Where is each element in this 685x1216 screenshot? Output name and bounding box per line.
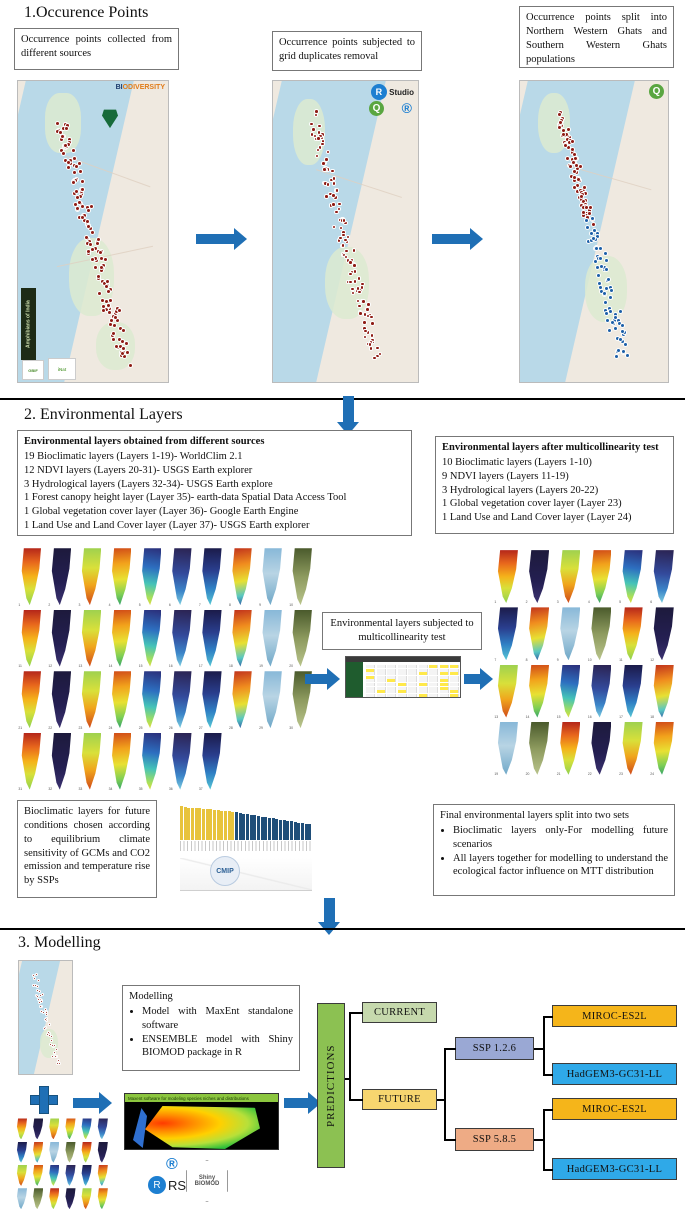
env-layer-thumbnail: 21 [554,721,584,777]
env-layer-thumbnail: 1 [16,547,45,608]
sheet-cell [419,690,428,693]
env-layer-thumbnail [95,1188,110,1210]
cmip-bar [213,810,216,840]
plus-icon [30,1086,58,1114]
cmip-bar [195,808,198,840]
occurrence-point [84,235,89,240]
sheet-cell [429,665,438,668]
occurrence-point [604,258,609,263]
occurrence-point [88,242,93,247]
env-layer-index: 32 [48,787,52,791]
occurrence-point [566,127,571,132]
env-layer-thumbnail: 15 [136,609,165,670]
miroc-es2l-ssp585-box[interactable]: MIROC-ES2L [552,1098,677,1120]
occurrence-point [39,1005,42,1008]
sheet-cell [440,683,449,686]
occurrence-point [330,169,335,174]
sheet-cell [377,694,386,697]
env-layer-index: 25 [139,726,143,730]
occurrence-point [331,202,336,207]
cmip-bar [297,823,300,840]
env-layer-thumbnail: 36 [167,732,196,793]
occurrence-point [71,148,76,153]
occurrence-point [369,346,374,351]
sheet-cell [366,672,375,675]
sheet-cell [366,694,375,697]
r-circle-icon: R [148,1176,166,1194]
env-layer-thumbnail: 19 [257,609,286,670]
connector-ssp126-to-hadgem [543,1074,553,1076]
future-bioclimatic-box: Bioclimatic layers for future conditions… [17,800,157,898]
occurrence-point [48,1023,51,1026]
env-layer-thumbnail: 11 [617,606,647,662]
occurrence-point [352,248,357,253]
occurrence-point [106,303,111,308]
env-layer-thumbnail: 24 [106,670,135,731]
occurrence-point [309,122,314,127]
occurrence-point [361,299,366,304]
env-layer-index: 15 [139,664,143,668]
occurrence-point [121,328,126,333]
sheet-cell [408,679,417,682]
cmip-bar [202,809,205,840]
cmip-bar [220,811,223,840]
cmip-bar [246,814,249,840]
sheet-titlebar [346,657,460,662]
env-source-line: 1 Forest canopy height layer (Layer 35)-… [24,491,405,505]
occurrence-point [311,127,316,132]
section-3-title: 3. Modelling [18,934,101,952]
occurrence-point [344,249,349,254]
sheet-cell [387,665,396,668]
occurrence-point [365,307,370,312]
env-layer-thumbnail [46,1165,61,1187]
occurrence-point [606,277,611,282]
sheet-cell [429,672,438,675]
env-layer-thumbnail: 26 [167,670,196,731]
sheet-cell [408,694,417,697]
occurrence-point [40,1010,43,1013]
occurrence-point [578,164,583,169]
sheet-cell [366,683,375,686]
sheet-cell [429,669,438,672]
connector-predictions-trunk [349,1012,351,1101]
occurrence-point [117,308,122,313]
occurrence-point [105,279,110,284]
sheet-cell [387,694,396,697]
cmip-bar [257,816,260,840]
sheet-cell [387,683,396,686]
occurrence-point [561,132,566,137]
env-layer-thumbnail [95,1141,110,1163]
sheet-cell [377,690,386,693]
env-layer-thumbnail: 2 [523,549,553,605]
occurrence-point [357,304,362,309]
arrow-to-selected-layers [464,668,493,690]
multicollinearity-box: Environmental layers subjected to multic… [322,612,482,650]
occurrence-point [573,156,578,161]
occurrence-point [570,147,575,152]
env-source-line: 3 Hydrological layers (Layers 32-34)- US… [24,478,405,492]
env-layer-index: 8 [526,658,528,662]
occurrence-point [72,170,77,175]
occurrence-point [120,351,125,356]
connector-ssp585-to-miroc [543,1109,553,1111]
occurrence-point [360,285,365,290]
sheet-cell [387,672,396,675]
occurrence-point [368,342,373,347]
cmip-bar [231,812,234,840]
occurrence-point [595,265,600,270]
env-layer-thumbnail: 12 [648,606,678,662]
env-layer-thumbnail: 21 [16,670,45,731]
sheet-cell [440,694,449,697]
connector-predictions-stub [345,1078,350,1080]
env-layer-thumbnail: 9 [554,606,584,662]
env-layer-index: 24 [650,772,654,776]
ssp-126-box[interactable]: SSP 1.2.6 [455,1037,534,1060]
sheet-cell [398,694,407,697]
qgis-logo: Q [649,84,664,99]
sheet-cell [377,672,386,675]
r-logo: ® [402,100,412,116]
env-layer-thumbnail: 7 [492,606,522,662]
env-layer-index: 10 [289,603,293,607]
hadgem3-ssp126-box[interactable]: HadGEM3-GC31-LL [552,1063,677,1085]
env-layer-index: 29 [259,726,263,730]
sheet-cell [429,694,438,697]
env-layer-index: 28 [229,726,233,730]
env-layer-thumbnail: 10 [287,547,316,608]
occurrence-point [321,161,326,166]
env-layer-thumbnail [30,1118,45,1140]
occurrence-point [107,310,112,315]
sheet-cell [387,669,396,672]
occurrence-point [322,167,327,172]
future-box[interactable]: FUTURE [362,1089,437,1110]
env-layer-thumbnail [14,1141,29,1163]
biomod-logo: Shiny BIOMOD [186,1160,228,1202]
env-layer-index: 7 [199,603,201,607]
env-layer-thumbnail: 4 [585,549,615,605]
env-layer-index: 3 [557,600,559,604]
env-layer-thumbnail: 5 [617,549,647,605]
occurrence-point [370,321,375,326]
env-layer-thumbnail [63,1165,78,1187]
cmip-bar [235,812,238,840]
occurrence-point [579,194,584,199]
sheet-cell [419,672,428,675]
env-layer-index: 18 [229,664,233,668]
sheet-cell [408,669,417,672]
sheet-cell [408,676,417,679]
sheet-cell [377,687,386,690]
q-circle-icon: Q [369,101,384,116]
env-layer-index: 15 [557,715,561,719]
env-layer-thumbnail: 8 [523,606,553,662]
occurrence-point [332,181,337,186]
arrow-step2-to-step3 [432,228,483,250]
occurrence-point [316,136,321,141]
sheet-cell [377,683,386,686]
env-layer-index: 19 [259,664,263,668]
occurrence-point [337,202,342,207]
map-occurrence-all: BIODIVERSITY Amphibians of India GBIF iN… [17,80,169,383]
env-layer-thumbnail [46,1188,61,1210]
env-sources-header: Environmental layers obtained from diffe… [24,435,405,449]
env-layer-thumbnail: 22 [46,670,75,731]
cmip-bar [239,813,242,840]
connector-ssp126-stub [534,1048,544,1050]
env-layer-index: 8 [229,603,231,607]
occurrence-point [36,985,39,988]
predictions-box[interactable]: PREDICTIONS [317,1003,345,1168]
final-layers-bullet: All layers together for modelling to und… [453,852,668,880]
cmip-bar [180,806,183,840]
env-layer-index: 6 [169,603,171,607]
occurrence-point [357,290,362,295]
sheet-cell [429,683,438,686]
env-layer-index: 9 [259,603,261,607]
env-layer-thumbnail: 28 [227,670,256,731]
cmip-axis-labels [180,841,312,851]
env-layer-thumbnail [79,1118,94,1140]
connector-future-trunk [444,1048,446,1140]
ssp-585-box[interactable]: SSP 5.8.5 [455,1128,534,1151]
map-modelling-input [18,960,73,1075]
env-after-line: 10 Bioclimatic layers (Layers 1-10) [442,456,667,470]
occurrence-point [61,151,66,156]
env-layer-index: 19 [494,772,498,776]
occurrence-point [591,222,596,227]
env-layer-thumbnail: 20 [523,721,553,777]
occurrence-point [80,187,85,192]
env-layer-index: 14 [526,715,530,719]
env-layer-index: 23 [79,726,83,730]
cmip-bar [261,817,264,840]
env-layer-index: 14 [109,664,113,668]
connector-ssp126-to-miroc [543,1016,553,1018]
modelling-box: Modelling Model with MaxEnt standalone s… [122,985,300,1071]
env-layers-stack-modelling [14,1118,110,1210]
occurrence-point [78,169,83,174]
occurrence-point [608,295,613,300]
sheet-cell [419,676,428,679]
sheet-cell [398,683,407,686]
sheet-cell [450,665,459,668]
sheet-cell [440,676,449,679]
sheet-cell [450,676,459,679]
connector-to-current [349,1012,363,1014]
env-layer-thumbnail [14,1118,29,1140]
sheet-cell [377,669,386,672]
sheet-cell [440,672,449,675]
occurrence-point [316,148,321,153]
env-layer-thumbnail: 18 [648,664,678,720]
occurrence-point [317,124,322,129]
connector-ssp585-to-hadgem [543,1169,553,1171]
sheet-cell [398,690,407,693]
env-layer-thumbnail: 6 [167,547,196,608]
occurrence-point [603,251,608,256]
sheet-cell [429,687,438,690]
occurrence-point [623,342,628,347]
env-layer-index: 6 [650,600,652,604]
sheet-cell [408,665,417,668]
hadgem3-ssp585-box[interactable]: HadGEM3-GC31-LL [552,1158,677,1180]
biodiversity-india-logo: BIODIVERSITY [116,84,165,91]
occurrence-point [80,179,85,184]
occurrence-point [99,265,104,270]
env-layer-thumbnail [63,1141,78,1163]
sheet-cell [387,690,396,693]
env-layer-thumbnail: 14 [523,664,553,720]
sheet-cell [419,687,428,690]
env-layer-index: 4 [588,600,590,604]
env-layer-index: 13 [494,715,498,719]
sheet-cell [408,690,417,693]
occurrence-point [41,993,44,996]
env-layer-thumbnail [95,1165,110,1187]
sheet-cell [398,676,407,679]
occurrence-point [591,236,596,241]
occurrence-point [352,263,357,268]
modelling-bullet: Model with MaxEnt standalone software [142,1005,293,1033]
env-source-line: 1 Land Use and Land Cover layer (Layer 3… [24,519,405,533]
connector-future-stub [437,1099,446,1101]
occurrence-point [66,165,71,170]
sheet-cell [440,665,449,668]
sheet-cell [440,669,449,672]
occurrence-point [609,288,614,293]
env-layer-thumbnail: 24 [648,721,678,777]
env-layer-index: 16 [588,715,592,719]
maxent-suitability-raster [135,1106,260,1149]
env-layer-thumbnail: 4 [106,547,135,608]
current-box[interactable]: CURRENT [362,1002,437,1023]
env-layer-index: 2 [48,603,50,607]
env-layer-index: 35 [139,787,143,791]
env-source-line: 12 NDVI layers (Layers 20-31)- USGS Eart… [24,464,405,478]
env-layer-thumbnail: 16 [167,609,196,670]
env-layer-index: 16 [169,664,173,668]
env-after-line: 1 Land Use and Land Cover layer (Layer 2… [442,511,667,525]
sheet-cell [450,683,459,686]
sheet-cell [366,679,375,682]
env-layer-index: 18 [650,715,654,719]
env-layer-index: 34 [109,787,113,791]
env-layer-index: 5 [139,603,141,607]
sheet-cell [440,687,449,690]
connector-ssp585-stub [534,1139,544,1141]
occurrence-point [621,349,626,354]
q-circle-icon: Q [649,84,664,99]
cmip-bar [268,818,271,840]
env-layer-thumbnail: 3 [554,549,584,605]
cmip-lower-panel [180,858,312,891]
cmip-bar [228,811,231,840]
miroc-es2l-ssp126-box[interactable]: MIROC-ES2L [552,1005,677,1027]
cmip-bar [209,809,212,840]
env-after-line: 3 Hydrological layers (Layers 20-22) [442,484,667,498]
env-layer-index: 24 [109,726,113,730]
env-layer-index: 31 [18,787,22,791]
cmip-bar [250,815,253,840]
cmip-ecs-chart: CMIP [168,800,316,895]
env-layer-thumbnail [63,1118,78,1140]
env-layer-thumbnail: 17 [617,664,647,720]
env-layer-index: 11 [18,664,22,668]
step1-box-split: Occurrence points split into Northern We… [519,6,674,68]
env-source-line: 19 Bioclimatic layers (Layers 1-19)- Wor… [24,450,405,464]
cmip-logo: CMIP [210,856,240,886]
sheet-cell [398,672,407,675]
connector-to-ssp126 [444,1048,456,1050]
occurrence-point [358,311,363,316]
sheet-cell [398,679,407,682]
env-layer-thumbnail: 25 [136,670,165,731]
cmip-bar [253,815,256,840]
cmip-bar-panel [180,804,312,840]
cmip-bar [279,820,282,840]
connector-to-ssp585 [444,1139,456,1141]
occurrence-point [565,156,570,161]
sheet-cell [366,665,375,668]
sheet-cell [440,679,449,682]
cmip-bar [242,814,245,840]
env-layer-thumbnail: 20 [287,609,316,670]
occurrence-point [331,193,336,198]
inaturalist-logo: iNat [48,358,76,380]
occurrence-point [90,230,95,235]
occurrence-point [80,215,85,220]
maxent-banner: Maxent software for modeling species nic… [125,1094,278,1102]
arrow-to-predictions [284,1092,321,1114]
env-layer-index: 11 [619,658,623,662]
env-layer-index: 3 [79,603,81,607]
env-layer-index: 20 [289,664,293,668]
env-layer-thumbnail: 3 [76,547,105,608]
multicollinearity-spreadsheet [345,656,461,698]
env-layer-index: 26 [169,726,173,730]
occurrence-point [338,236,343,241]
env-layer-index: 33 [79,787,83,791]
env-layer-index: 5 [619,600,621,604]
occurrence-point [86,224,91,229]
sheet-cell [450,690,459,693]
occurrence-point [590,216,595,221]
final-layers-header: Final environmental layers split into tw… [440,809,668,823]
env-layer-thumbnail: 31 [16,732,45,793]
sheet-cell [387,687,396,690]
env-layer-index: 12 [48,664,52,668]
cmip-bar [275,819,278,840]
occurrence-point [570,139,575,144]
env-layer-thumbnail: 8 [227,547,256,608]
cmip-bar [301,823,304,840]
env-layer-thumbnail [14,1165,29,1187]
occurrence-point [75,195,80,200]
env-layer-thumbnail: 7 [197,547,226,608]
sheet-cell [366,687,375,690]
sheet-cell [450,679,459,682]
env-layer-thumbnail [14,1188,29,1210]
occurrence-point [332,176,337,181]
env-layer-thumbnail: 5 [136,547,165,608]
occurrence-point [581,210,586,215]
sheet-cell [377,679,386,682]
env-layer-index: 9 [557,658,559,662]
